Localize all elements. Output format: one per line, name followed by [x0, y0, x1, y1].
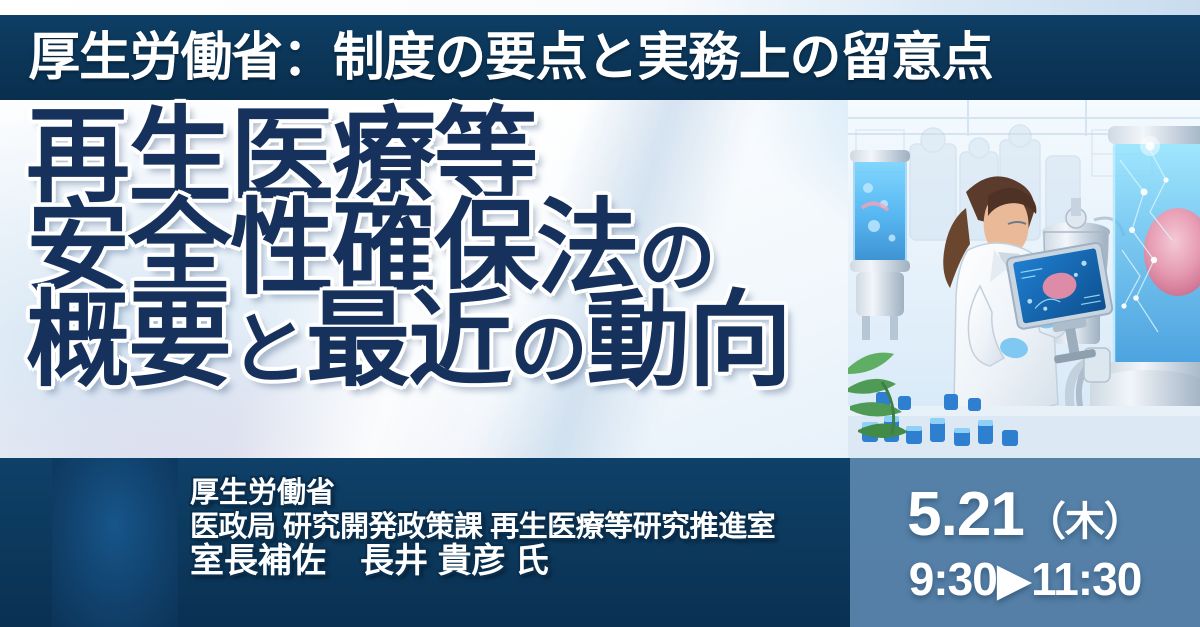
- title-line-3-b: と: [230, 305, 306, 393]
- laboratory-illustration: [848, 100, 1200, 460]
- header-bar: 厚生労働省：制度の要点と実務上の留意点: [0, 15, 1200, 100]
- speaker-organization: 厚生労働省: [190, 478, 830, 508]
- title-line-3-d: の: [510, 305, 586, 393]
- schedule-panel: 5.21 （木） 9:30▶11:30: [850, 458, 1200, 627]
- speaker-portrait: [52, 458, 178, 627]
- speaker-info: 厚生労働省 医政局 研究開発政策課 再生医療等研究推進室 室長補佐 長井 貴彦 …: [190, 478, 830, 580]
- webinar-banner: 厚生労働省：制度の要点と実務上の留意点: [0, 0, 1200, 627]
- event-date-value: 5.21: [907, 484, 1024, 546]
- portrait-background: [52, 458, 178, 627]
- speaker-name: 室長補佐 長井 貴彦 氏: [190, 544, 830, 579]
- title-line-3-c: 最近: [306, 283, 510, 399]
- event-date: 5.21 （木）: [907, 484, 1143, 546]
- event-time: 9:30▶11:30: [909, 556, 1142, 602]
- header-title: 厚生労働省：制度の要点と実務上の留意点: [28, 32, 992, 84]
- speaker-department: 医政局 研究開発政策課 再生医療等研究推進室: [190, 512, 830, 542]
- top-light-strip: [0, 0, 1200, 15]
- title-line-3-a: 概要: [26, 283, 230, 399]
- title-line-3-e: 動向: [586, 283, 790, 399]
- title-line-3: 概要と最近の動向: [26, 292, 836, 392]
- event-day-of-week: （木）: [1026, 502, 1143, 542]
- page-title: 再生医療等 安全性確保法の 概要と最近の動向: [26, 108, 836, 391]
- illustration-panel: [848, 100, 1200, 460]
